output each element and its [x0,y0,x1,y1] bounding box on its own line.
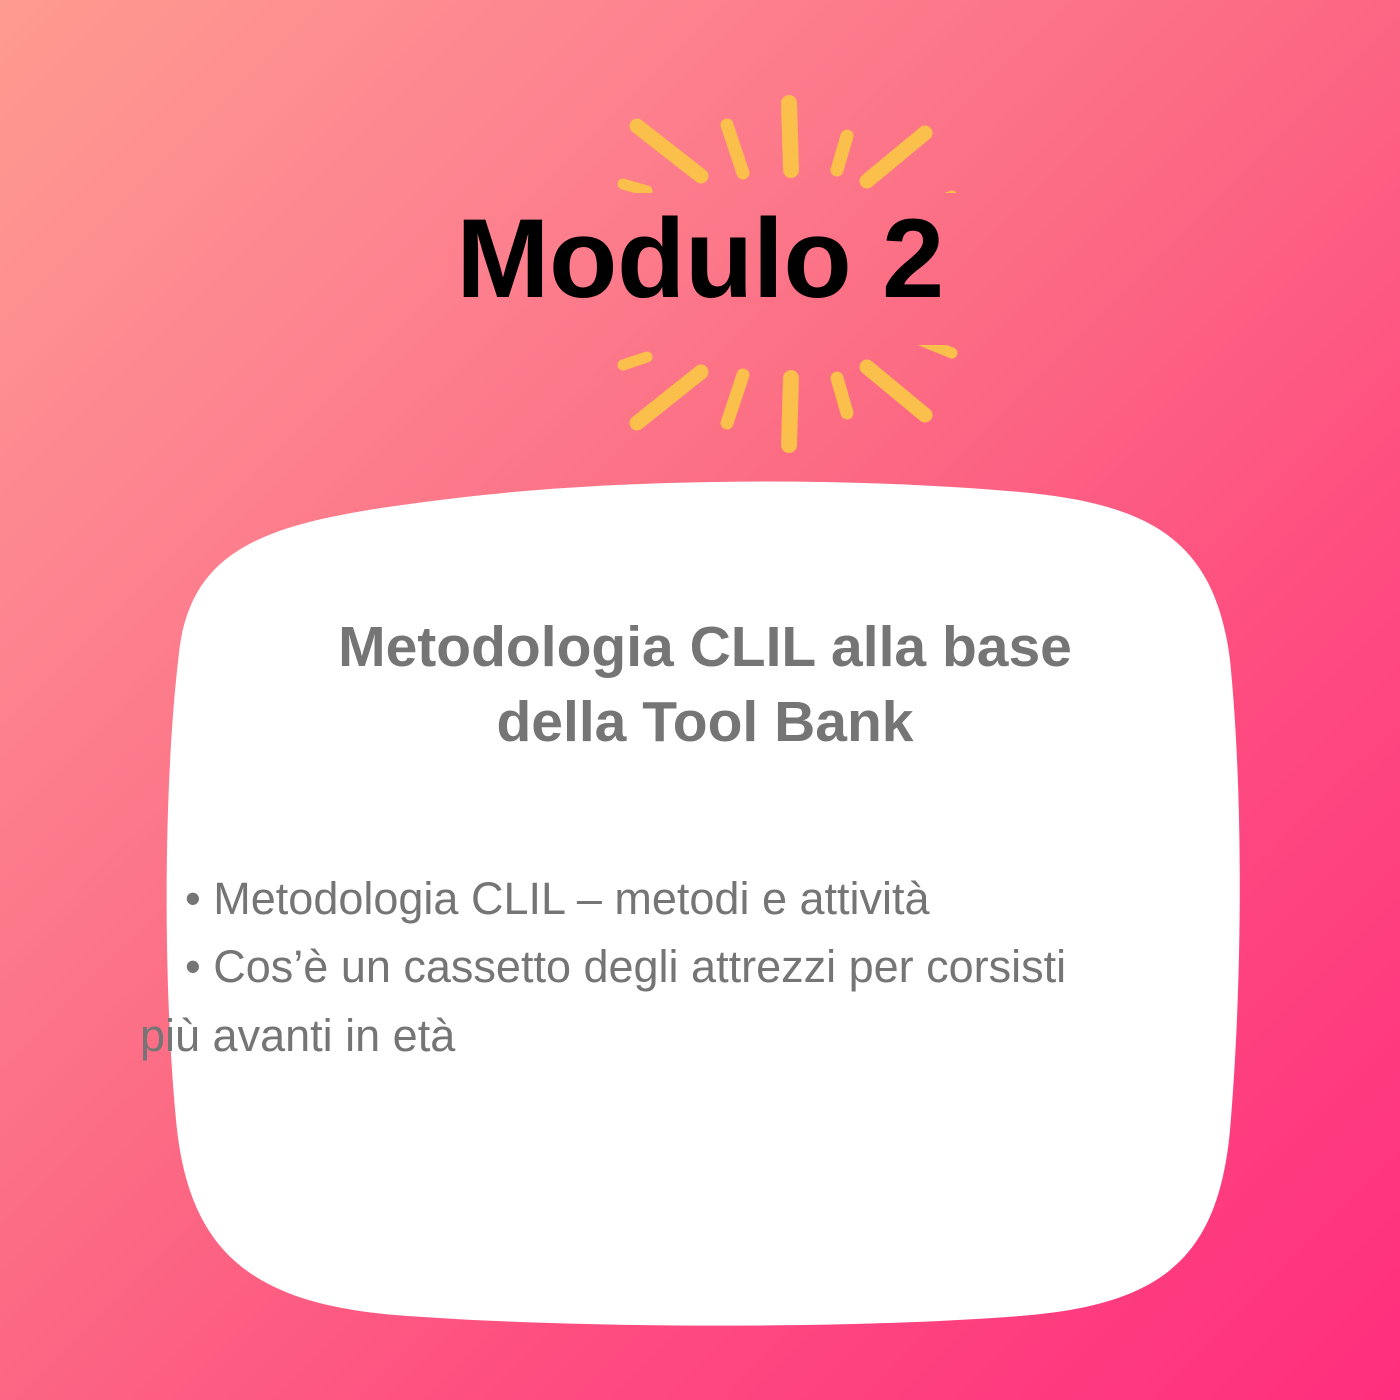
burst-ray [637,126,701,176]
sparkle-burst-top [0,48,1400,193]
bullet-dot-icon: • [185,873,201,924]
burst-ray [727,375,743,423]
burst-ray [867,367,925,415]
burst-ray [789,103,791,170]
burst-ray [920,345,952,353]
bullet-list: • Metodologia CLIL – metodi e attività •… [140,865,1250,1070]
card-heading-line-2: della Tool Bank [180,685,1230,760]
burst-ray [867,133,925,181]
list-item: • Cos’è un cassetto degli attrezzi per c… [140,933,1250,1001]
burst-ray [837,136,847,170]
list-item-text: Cos’è un cassetto degli attrezzi per cor… [213,941,1066,992]
burst-ray [637,372,701,423]
card-heading-line-1: Metodologia CLIL alla base [180,610,1230,685]
sparkle-burst-bottom [0,345,1400,490]
slide-title: Modulo 2 [0,193,1400,325]
card-content: Metodologia CLIL alla base della Tool Ba… [0,470,1400,1350]
slide-canvas: Modulo 2 Metodologia CLIL alla base dell… [0,0,1400,1400]
list-item-text: Metodologia CLIL – metodi e attività [213,873,929,924]
burst-ray [789,378,791,445]
burst-ray [727,125,743,173]
bullet-dot-icon: • [185,941,201,992]
list-item: • Metodologia CLIL – metodi e attività [140,865,1250,933]
burst-ray [623,184,647,191]
card-heading: Metodologia CLIL alla base della Tool Ba… [180,610,1230,760]
burst-ray [623,357,647,365]
burst-ray [837,378,847,413]
list-item-wrapped-text: più avanti in età [140,1002,1250,1070]
